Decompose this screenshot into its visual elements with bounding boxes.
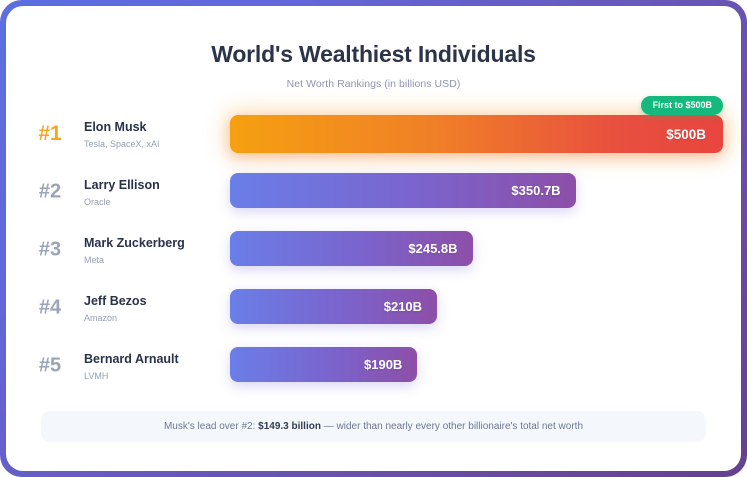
person-name: Larry Ellison	[84, 178, 160, 192]
page-title: World's Wealthiest Individuals	[6, 42, 741, 67]
person-company: LVMH	[84, 370, 179, 380]
bar-value-label: $245.8B	[408, 241, 472, 256]
value-bar[interactable]: $350.7B	[230, 173, 576, 208]
person-name: Bernard Arnault	[84, 352, 179, 366]
ranking-row[interactable]: #4Jeff BezosAmazon$210B	[6, 279, 741, 337]
bar-value-label: $190B	[364, 357, 417, 372]
rank-number: #4	[28, 297, 72, 320]
bar-value-label: $210B	[384, 299, 437, 314]
chart-frame: World's Wealthiest Individuals Net Worth…	[0, 0, 747, 477]
footer-prefix: Musk's lead over #2:	[164, 421, 258, 432]
rank-number: #2	[28, 181, 72, 204]
person-info: Mark ZuckerbergMeta	[84, 236, 185, 264]
person-company: Amazon	[84, 312, 147, 322]
value-bar[interactable]: $500BFirst to $500B	[230, 115, 723, 153]
person-info: Larry EllisonOracle	[84, 178, 160, 206]
bar-track: $245.8B	[230, 231, 723, 269]
footer-suffix: — wider than nearly every other billiona…	[321, 421, 583, 432]
ranking-row[interactable]: #5Bernard ArnaultLVMH$190B	[6, 337, 741, 395]
bar-track: $190B	[230, 347, 723, 385]
footer-highlight: $149.3 billion	[258, 421, 321, 432]
ranking-row[interactable]: #2Larry EllisonOracle$350.7B	[6, 163, 741, 221]
person-info: Elon MuskTesla, SpaceX, xAI	[84, 120, 160, 148]
page-subtitle: Net Worth Rankings (in billions USD)	[6, 78, 741, 90]
ranking-row[interactable]: #1Elon MuskTesla, SpaceX, xAI$500BFirst …	[6, 105, 741, 163]
chart-card: World's Wealthiest Individuals Net Worth…	[6, 6, 741, 471]
footer-note: Musk's lead over #2: $149.3 billion — wi…	[41, 411, 706, 442]
bar-track: $210B	[230, 289, 723, 327]
rank-number: #3	[28, 239, 72, 262]
rank-number: #1	[28, 122, 72, 146]
person-info: Jeff BezosAmazon	[84, 294, 147, 322]
chart-header: World's Wealthiest Individuals Net Worth…	[6, 6, 741, 90]
person-company: Oracle	[84, 196, 160, 206]
ranking-row[interactable]: #3Mark ZuckerbergMeta$245.8B	[6, 221, 741, 279]
value-bar[interactable]: $210B	[230, 289, 437, 324]
bar-value-label: $500B	[666, 127, 723, 142]
person-company: Tesla, SpaceX, xAI	[84, 138, 160, 148]
value-bar[interactable]: $245.8B	[230, 231, 473, 266]
person-company: Meta	[84, 254, 185, 264]
person-info: Bernard ArnaultLVMH	[84, 352, 179, 380]
rank-number: #5	[28, 355, 72, 378]
milestone-badge: First to $500B	[641, 96, 723, 115]
value-bar[interactable]: $190B	[230, 347, 417, 382]
bar-value-label: $350.7B	[511, 183, 575, 198]
footer-note-text: Musk's lead over #2: $149.3 billion — wi…	[164, 421, 583, 432]
bar-track: $350.7B	[230, 173, 723, 211]
person-name: Mark Zuckerberg	[84, 236, 185, 250]
ranking-list: #1Elon MuskTesla, SpaceX, xAI$500BFirst …	[6, 105, 741, 395]
bar-track: $500BFirst to $500B	[230, 115, 723, 153]
person-name: Jeff Bezos	[84, 294, 147, 308]
person-name: Elon Musk	[84, 120, 160, 134]
